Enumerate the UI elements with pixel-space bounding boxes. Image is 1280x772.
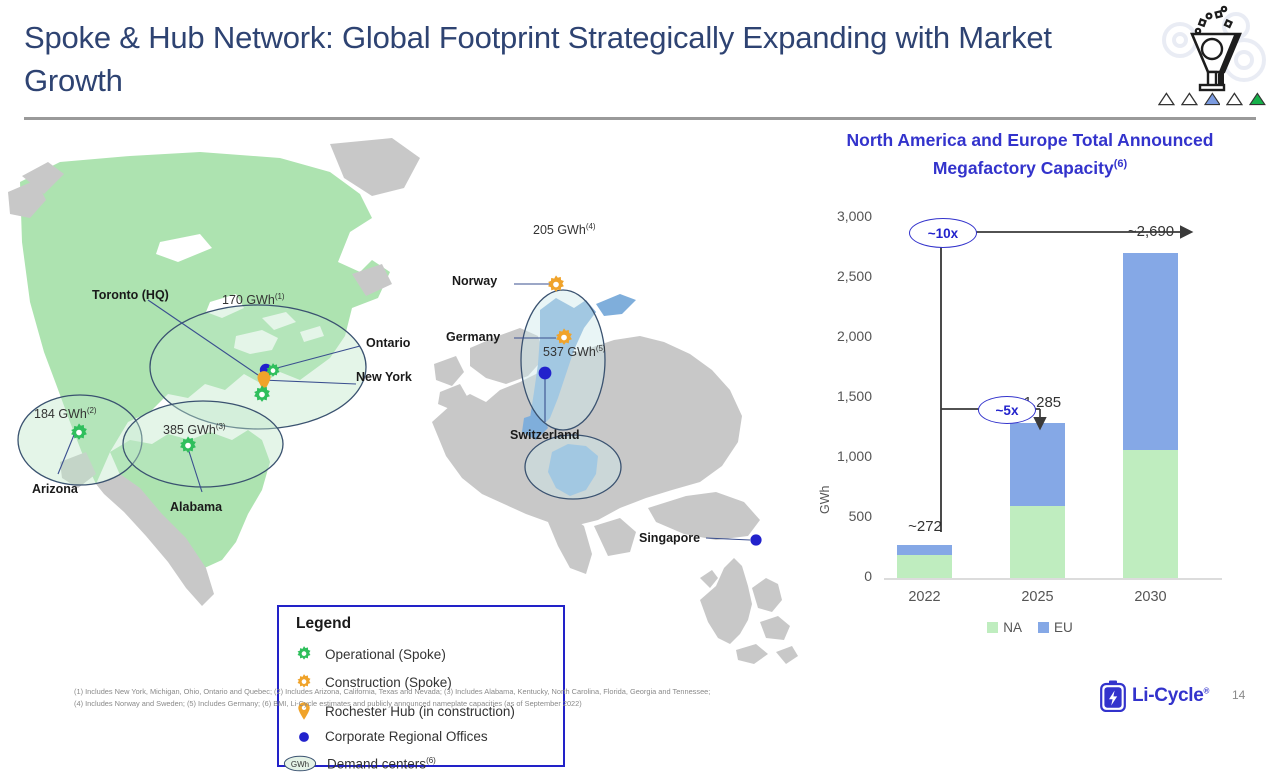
map-label-switzerland: Switzerland bbox=[510, 428, 579, 442]
legend-item-demand-centers: GWh Demand centers(6) bbox=[283, 755, 436, 772]
page-title: Spoke & Hub Network: Global Footprint St… bbox=[24, 16, 1144, 102]
triangle-outline-icon bbox=[1158, 92, 1175, 106]
page-number: 14 bbox=[1232, 688, 1245, 702]
chart-plot-area: GWh 3,000 2,500 2,000 1,500 1,000 500 0 … bbox=[800, 122, 1270, 652]
map-label-ontario: Ontario bbox=[366, 336, 410, 350]
map-label-singapore: Singapore bbox=[639, 531, 700, 545]
legend-title: Legend bbox=[296, 615, 351, 633]
slide-header: Spoke & Hub Network: Global Footprint St… bbox=[0, 0, 1280, 118]
footnote-line: (4) Includes Norway and Sweden; (5) Incl… bbox=[74, 698, 904, 710]
triangle-green-icon bbox=[1249, 92, 1266, 106]
map-label-toronto-hq: Toronto (HQ) bbox=[92, 288, 169, 302]
legend-item-corporate-offices: Corporate Regional Offices bbox=[293, 729, 488, 744]
header-divider bbox=[24, 117, 1256, 120]
capacity-chart: North America and Europe Total Announced… bbox=[800, 122, 1270, 652]
battery-bolt-icon bbox=[1100, 680, 1126, 712]
triangle-outline-icon bbox=[1181, 92, 1198, 106]
growth-callout-10x: ~10x bbox=[909, 218, 977, 248]
blue-dot-icon-singapore bbox=[748, 532, 764, 548]
green-gear-icon-ontario bbox=[264, 362, 282, 380]
blue-dot-icon-switzerland bbox=[537, 365, 553, 381]
triangle-outline-icon bbox=[1226, 92, 1243, 106]
legend-item-label: Corporate Regional Offices bbox=[325, 729, 488, 744]
chart-legend-item-eu[interactable]: EU bbox=[1038, 620, 1073, 635]
svg-text:GWh: GWh bbox=[291, 760, 309, 769]
growth-annotation-lines bbox=[800, 122, 1270, 622]
map-label-new-york: New York bbox=[356, 370, 412, 384]
triangle-blue-icon bbox=[1204, 92, 1221, 106]
green-gear-icon bbox=[293, 645, 315, 663]
legend-item-footnote: (6) bbox=[426, 756, 436, 765]
map-label-norway: Norway bbox=[452, 274, 497, 288]
growth-callout-5x: ~5x bbox=[978, 396, 1036, 424]
footnotes: (1) Includes New York, Michigan, Ohio, O… bbox=[74, 686, 904, 709]
orange-gear-icon-norway bbox=[545, 274, 567, 296]
world-map-panel: Toronto (HQ) Ontario New York Arizona Al… bbox=[0, 122, 800, 682]
legend-item-label: Operational (Spoke) bbox=[325, 647, 446, 662]
map-label-alabama: Alabama bbox=[170, 500, 222, 514]
orange-gear-icon-germany bbox=[553, 327, 575, 349]
map-label-germany: Germany bbox=[446, 330, 500, 344]
legend-item-operational: Operational (Spoke) bbox=[293, 645, 446, 663]
demand-center-value-southwest: 184 GWh(2) bbox=[34, 406, 97, 421]
gwh-bubble-icon: GWh bbox=[283, 755, 317, 772]
brand-name: Li-Cycle® bbox=[1132, 685, 1209, 707]
eu-swatch-icon bbox=[1038, 622, 1049, 633]
map-label-arizona: Arizona bbox=[32, 482, 78, 496]
triangle-row bbox=[1158, 86, 1266, 106]
blue-dot-icon bbox=[293, 730, 315, 744]
demand-center-value-nordics: 205 GWh(4) bbox=[533, 222, 596, 237]
na-swatch-icon bbox=[987, 622, 998, 633]
brand-logo: Li-Cycle® bbox=[1100, 680, 1209, 712]
slide: Spoke & Hub Network: Global Footprint St… bbox=[0, 0, 1280, 720]
chart-legend: NA EU bbox=[800, 620, 1260, 635]
footnote-line: (1) Includes New York, Michigan, Ohio, O… bbox=[74, 686, 904, 698]
asia-landmass bbox=[700, 558, 798, 664]
green-gear-icon-arizona bbox=[68, 422, 90, 444]
chart-legend-item-na[interactable]: NA bbox=[987, 620, 1022, 635]
demand-center-value-northeast: 170 GWh(1) bbox=[222, 292, 285, 307]
legend-item-label: Demand centers bbox=[327, 756, 426, 771]
green-gear-icon-new-york bbox=[251, 384, 273, 406]
world-map-graphic bbox=[0, 122, 800, 682]
green-gear-icon-alabama bbox=[177, 435, 199, 457]
